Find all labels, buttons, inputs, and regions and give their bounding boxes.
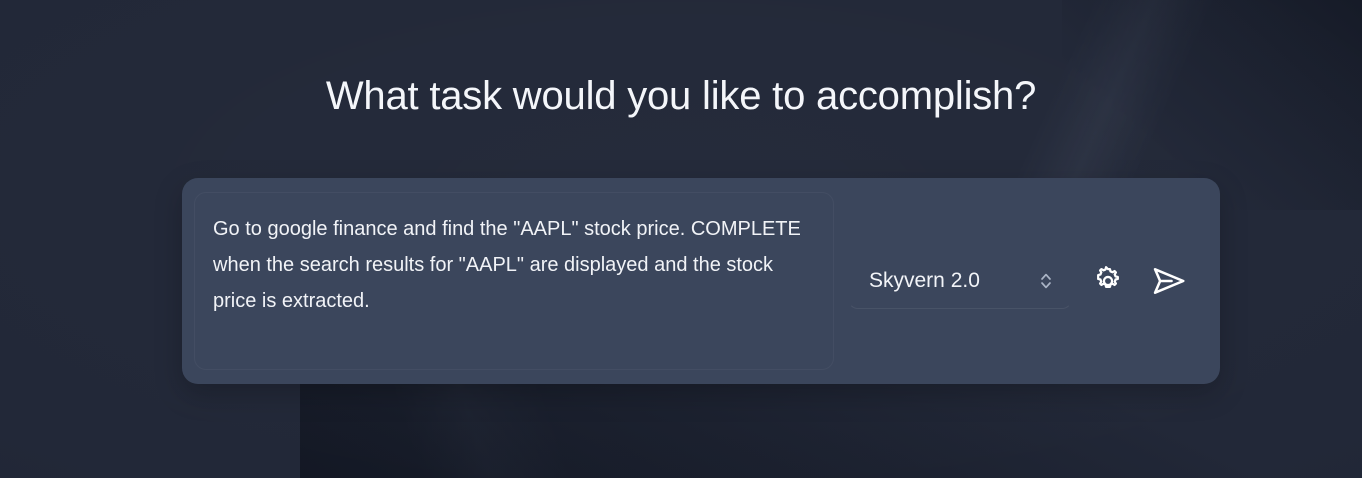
send-button[interactable] [1144,259,1194,303]
prompt-card-controls: Skyvern 2.0 [834,178,1220,384]
chevron-up-down-icon [1039,271,1053,291]
send-icon [1150,262,1188,300]
task-prompt-page: What task would you like to accomplish? … [0,0,1362,478]
settings-button[interactable] [1086,259,1130,303]
model-select-value: Skyvern 2.0 [869,269,980,293]
page-title: What task would you like to accomplish? [0,74,1362,118]
gear-icon [1092,265,1124,297]
model-select[interactable]: Skyvern 2.0 [848,253,1072,309]
task-prompt-input[interactable] [194,192,834,370]
prompt-card: Skyvern 2.0 [182,178,1220,384]
